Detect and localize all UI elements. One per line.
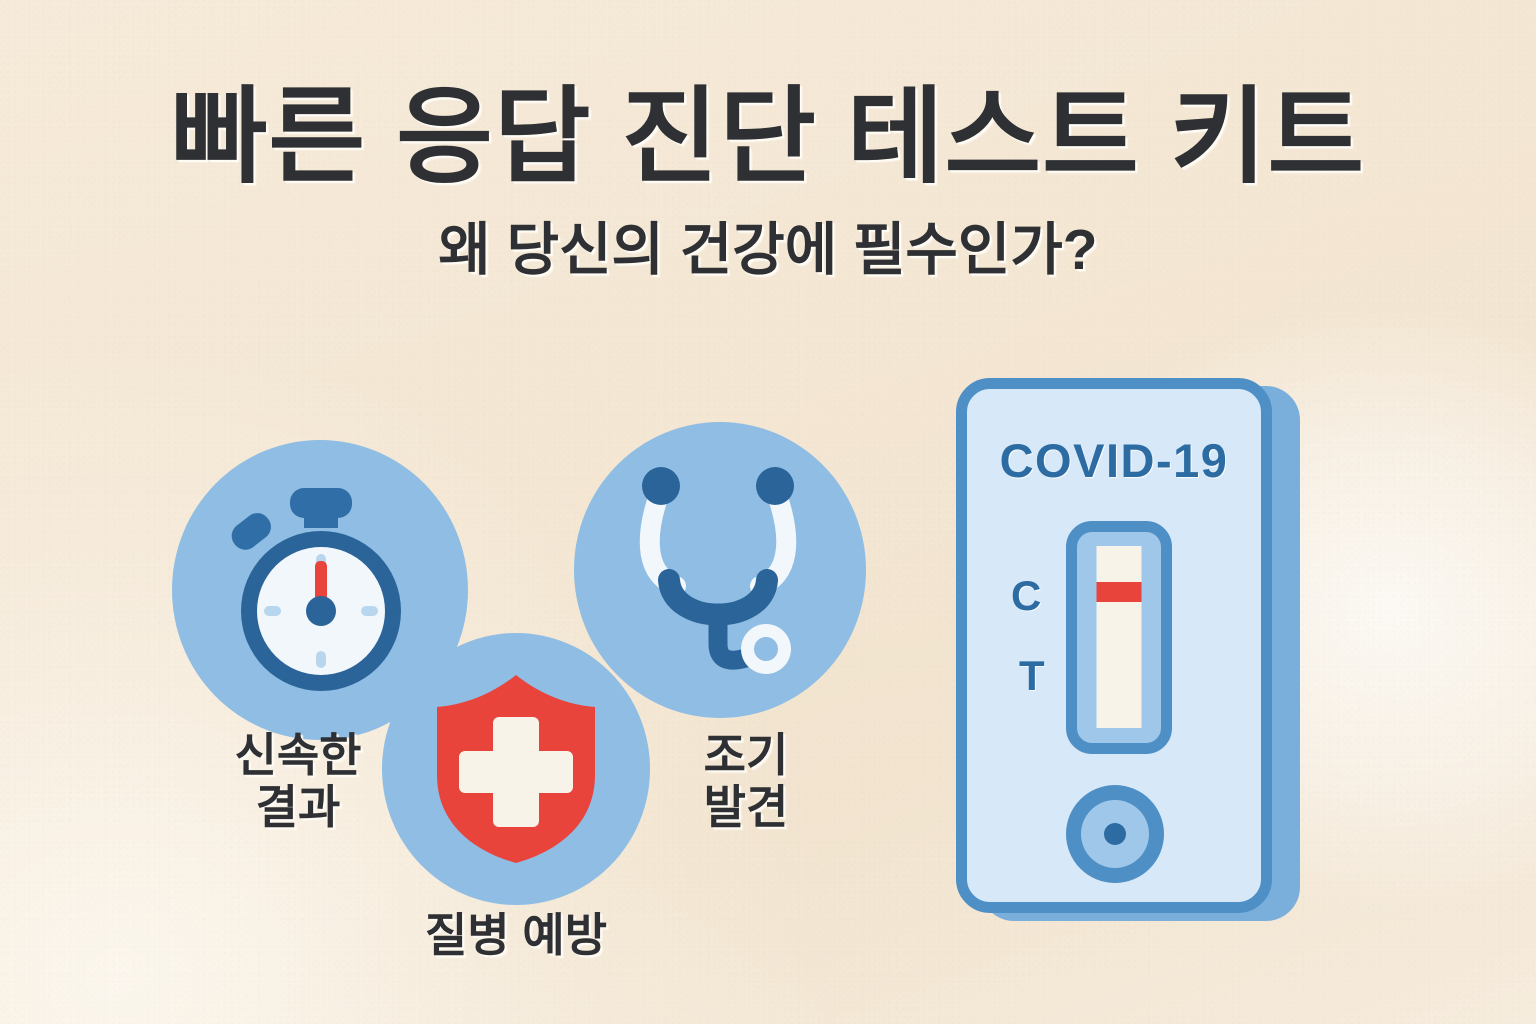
sample-well xyxy=(1066,785,1164,883)
page-subtitle: 왜 당신의 건강에 필수인가? xyxy=(0,221,1536,281)
cassette-body: COVID-19 C T xyxy=(956,378,1272,913)
poster-canvas: 빠른 응답 진단 테스트 키트 왜 당신의 건강에 필수인가? 신속한 결과 xyxy=(0,0,1536,1024)
feature-label-early-detection: 조기 발견 xyxy=(620,730,872,834)
sample-well-hole xyxy=(1104,823,1126,845)
stethoscope-icon xyxy=(628,464,818,676)
poster-header: 빠른 응답 진단 테스트 키트 왜 당신의 건강에 필수인가? xyxy=(0,84,1536,281)
test-line-marker: T xyxy=(1019,652,1045,700)
control-line-marker: C xyxy=(1011,572,1041,620)
shield-cross-icon xyxy=(429,671,603,867)
feature-bubble-disease-prevention xyxy=(382,633,650,905)
cassette-brand-label: COVID-19 xyxy=(967,433,1261,488)
feature-label-disease-prevention: 질병 예방 xyxy=(366,910,666,962)
covid-test-cassette: COVID-19 C T xyxy=(952,378,1302,921)
result-strip xyxy=(1097,546,1142,728)
page-title: 빠른 응답 진단 테스트 키트 xyxy=(0,84,1536,191)
sample-well-ring xyxy=(1081,800,1149,868)
feature-bubble-early-detection xyxy=(574,422,866,718)
control-line-band xyxy=(1097,582,1142,602)
result-window xyxy=(1066,521,1172,754)
stopwatch-icon xyxy=(216,484,426,696)
